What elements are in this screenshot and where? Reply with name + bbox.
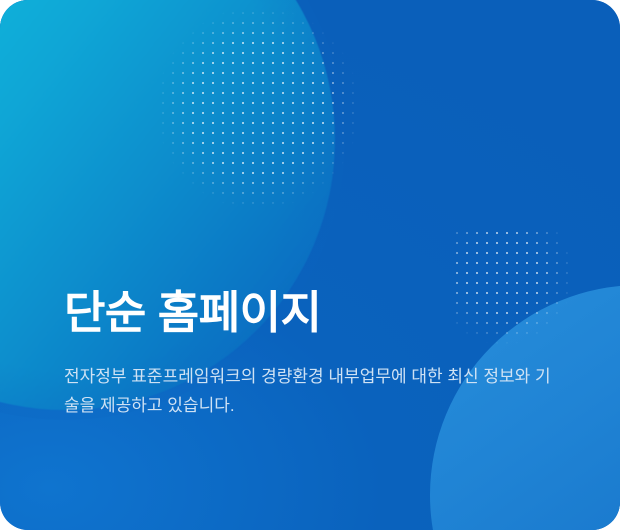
page-title: 단순 홈페이지 xyxy=(64,286,574,339)
hero-content: 단순 홈페이지 전자정부 표준프레임워크의 경량환경 내부업무에 대한 최신 정… xyxy=(64,286,574,420)
hero-banner: 단순 홈페이지 전자정부 표준프레임워크의 경량환경 내부업무에 대한 최신 정… xyxy=(0,0,620,530)
page-subtitle: 전자정부 표준프레임워크의 경량환경 내부업무에 대한 최신 정보와 기술을 제… xyxy=(64,339,559,420)
